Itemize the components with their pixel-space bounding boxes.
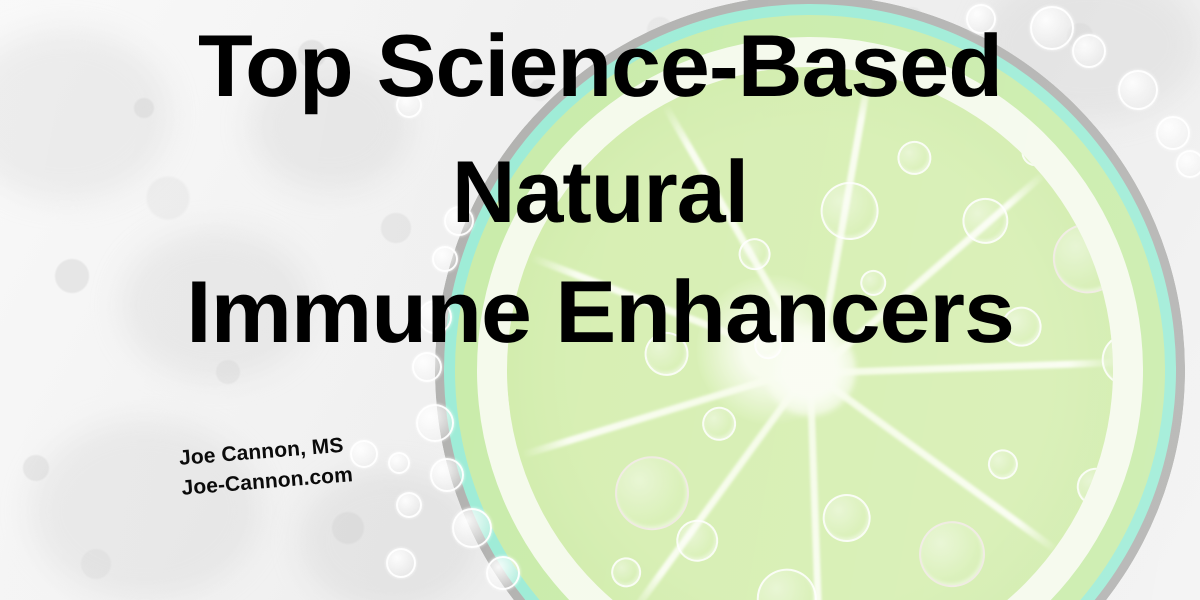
lime-segment-divider [813,359,1116,377]
bubbles-icon [700,405,737,442]
bubbles-icon [674,518,720,564]
bubbles-icon [350,440,378,468]
bubbles-icon [486,556,520,590]
title-line-2: Natural [0,148,1200,236]
bubbles-icon [396,492,422,518]
title-line-1: Top Science-Based [0,22,1200,110]
bubbles-icon [1156,116,1190,150]
bubbles-icon [986,448,1019,481]
bubbles-icon [416,404,454,442]
bubbles-icon [386,548,416,578]
bubbles-icon [388,452,410,474]
bubbles-icon [754,566,820,600]
bubbles-icon [430,458,464,492]
bubbles-icon [820,492,873,545]
bubbles-icon [452,508,492,548]
banner-canvas: Top Science-Based Natural Immune Enhance… [0,0,1200,600]
title-line-3: Immune Enhancers [0,268,1200,356]
bubbles-icon [916,518,989,591]
bubbles-icon [611,453,692,534]
bubbles-icon [610,556,643,589]
